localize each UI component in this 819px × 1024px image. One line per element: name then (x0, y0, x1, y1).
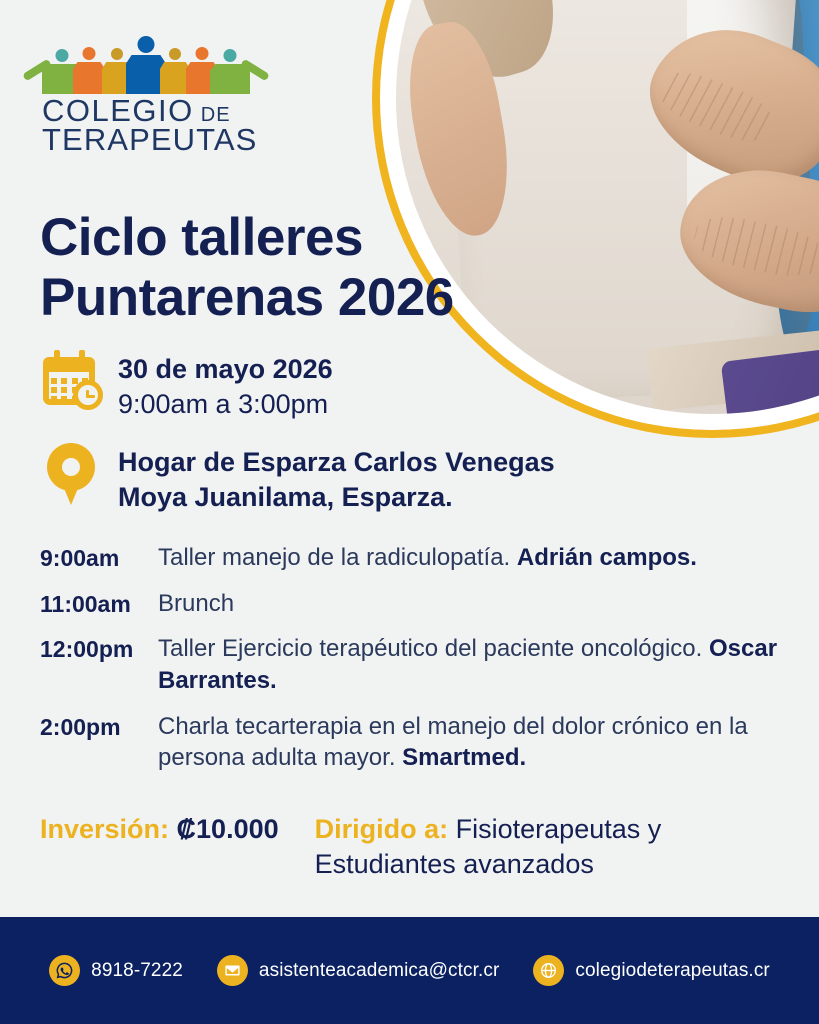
event-date: 30 de mayo 2026 (118, 352, 333, 387)
pricing-audience-row: Inversión: ₡10.000 Dirigido a: Fisiotera… (40, 812, 780, 882)
logo-person-body (210, 64, 250, 94)
schedule-time: 2:00pm (40, 711, 158, 742)
schedule-speaker: Adrián campos. (517, 544, 697, 571)
logo-text-terapeutas: TERAPEUTAS (42, 126, 252, 155)
schedule-speaker: Smartmed. (402, 744, 526, 771)
logo-person-7 (210, 36, 250, 94)
logo-person-head (56, 49, 69, 62)
contact-item[interactable]: asistenteacademica@ctcr.cr (217, 955, 499, 986)
title-line-1: Ciclo talleres (40, 208, 520, 268)
calendar-clock-icon (38, 350, 104, 408)
globe-icon[interactable] (533, 955, 564, 986)
contact-text[interactable]: 8918-7222 (91, 960, 183, 982)
event-location-row: Hogar de Esparza Carlos Venegas Moya Jua… (38, 443, 555, 514)
schedule-time: 9:00am (40, 542, 158, 573)
schedule-row: 2:00pmCharla tecarterapia en el manejo d… (40, 711, 780, 774)
price-label: Inversión: (40, 814, 169, 844)
event-date-text: 30 de mayo 2026 9:00am a 3:00pm (118, 350, 333, 421)
schedule-row: 9:00amTaller manejo de la radiculopatía.… (40, 542, 780, 574)
schedule-topic: Taller manejo de la radiculopatía. (158, 544, 517, 571)
schedule-description: Brunch (158, 588, 234, 620)
schedule-row: 12:00pmTaller Ejercicio terapéutico del … (40, 633, 780, 696)
schedule-topic: Brunch (158, 590, 234, 617)
contact-text[interactable]: asistenteacademica@ctcr.cr (259, 960, 499, 982)
audience-block: Dirigido a: Fisioterapeutas y Estudiante… (315, 812, 705, 882)
schedule-topic: Taller Ejercicio terapéutico del pacient… (158, 635, 709, 662)
contact-footer: 8918-7222asistenteacademica@ctcr.crcoleg… (0, 917, 819, 1024)
logo-person-head (196, 47, 209, 60)
venue-name: Hogar de Esparza Carlos Venegas (118, 445, 555, 480)
venue-address: Moya Juanilama, Esparza. (118, 480, 555, 515)
logo-person-head (169, 48, 181, 60)
page-title: Ciclo talleres Puntarenas 2026 (40, 208, 520, 328)
audience-label: Dirigido a: (315, 814, 449, 844)
map-pin-icon (38, 443, 104, 505)
logo-person-2 (73, 36, 105, 94)
event-date-row: 30 de mayo 2026 9:00am a 3:00pm (38, 350, 333, 421)
colegio-de-terapeutas-logo: COLEGIODE TERAPEUTAS (42, 36, 252, 154)
hero-photo (396, 0, 819, 414)
event-time: 9:00am a 3:00pm (118, 387, 333, 422)
logo-person-head (138, 36, 155, 53)
whatsapp-icon[interactable] (49, 955, 80, 986)
price-amount: ₡10.000 (177, 814, 279, 844)
price-block: Inversión: ₡10.000 (40, 812, 279, 847)
logo-wordmark: COLEGIODE TERAPEUTAS (42, 97, 252, 154)
contact-item[interactable]: 8918-7222 (49, 955, 183, 986)
logo-people-icon (42, 36, 248, 94)
email-icon[interactable] (217, 955, 248, 986)
schedule-list: 9:00amTaller manejo de la radiculopatía.… (40, 542, 780, 788)
schedule-time: 12:00pm (40, 633, 158, 664)
event-location-text: Hogar de Esparza Carlos Venegas Moya Jua… (118, 443, 555, 514)
logo-person-head (83, 47, 96, 60)
event-poster: COLEGIODE TERAPEUTAS Ciclo talleres Punt… (0, 0, 819, 1024)
logo-person-head (111, 48, 123, 60)
schedule-row: 11:00amBrunch (40, 588, 780, 620)
schedule-description: Charla tecarterapia en el manejo del dol… (158, 711, 780, 774)
schedule-description: Taller manejo de la radiculopatía. Adriá… (158, 542, 697, 574)
logo-person-body (73, 62, 105, 94)
schedule-time: 11:00am (40, 588, 158, 619)
schedule-description: Taller Ejercicio terapéutico del pacient… (158, 633, 780, 696)
logo-person-head (224, 49, 237, 62)
contact-item[interactable]: colegiodeterapeutas.cr (533, 955, 769, 986)
contact-text[interactable]: colegiodeterapeutas.cr (575, 960, 769, 982)
title-line-2: Puntarenas 2026 (40, 268, 520, 328)
